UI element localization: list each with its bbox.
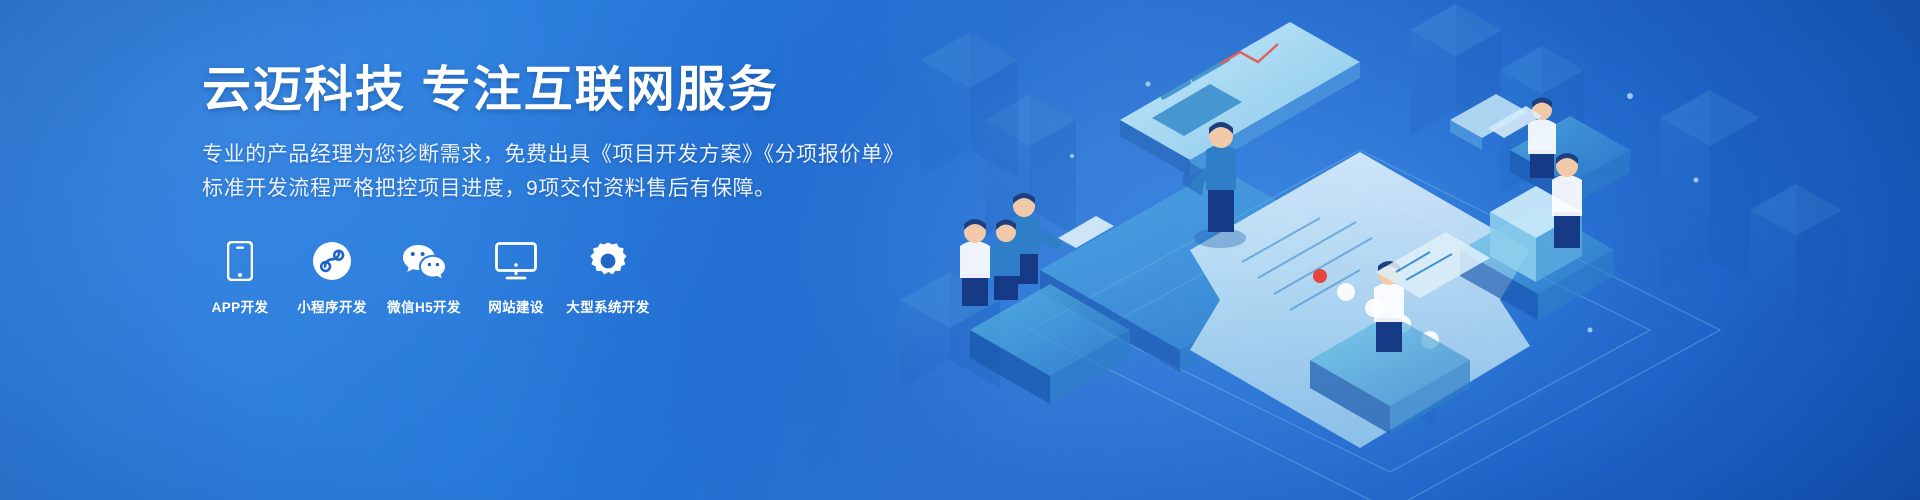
service-item-app[interactable]: APP开发: [202, 240, 278, 316]
service-item-miniprogram[interactable]: 小程序开发: [294, 240, 370, 316]
isometric-illustration: [890, 0, 1920, 500]
service-item-system[interactable]: 大型系统开发: [570, 240, 646, 316]
gear-icon: [588, 240, 628, 282]
service-item-website[interactable]: 网站建设: [478, 240, 554, 316]
service-label-miniprogram: 小程序开发: [297, 296, 367, 316]
service-icon-row: APP开发 小程序开发 微信H5开发: [202, 240, 962, 316]
mini-program-icon: [312, 240, 352, 282]
service-label-system: 大型系统开发: [566, 296, 649, 316]
subtitle-line-1: 专业的产品经理为您诊断需求，免费出具《项目开发方案》《分项报价单》: [202, 138, 962, 172]
wechat-icon: [401, 240, 447, 282]
person-far-right-standing: [1552, 153, 1582, 248]
service-label-wechat: 微信H5开发: [387, 296, 461, 316]
subtitle-line-2: 标准开发流程严格把控项目进度，9项交付资料售后有保障。: [202, 172, 962, 206]
service-label-app: APP开发: [212, 296, 269, 316]
monitor-icon: [495, 240, 537, 282]
hero-banner: 云迈科技 专注互联网服务 专业的产品经理为您诊断需求，免费出具《项目开发方案》《…: [0, 0, 1920, 500]
service-item-wechat[interactable]: 微信H5开发: [386, 240, 462, 316]
page-title: 云迈科技 专注互联网服务: [202, 62, 962, 120]
banner-content: 云迈科技 专注互联网服务 专业的产品经理为您诊断需求，免费出具《项目开发方案》《…: [202, 62, 962, 316]
mobile-phone-icon: [227, 240, 253, 282]
service-label-website: 网站建设: [488, 296, 544, 316]
